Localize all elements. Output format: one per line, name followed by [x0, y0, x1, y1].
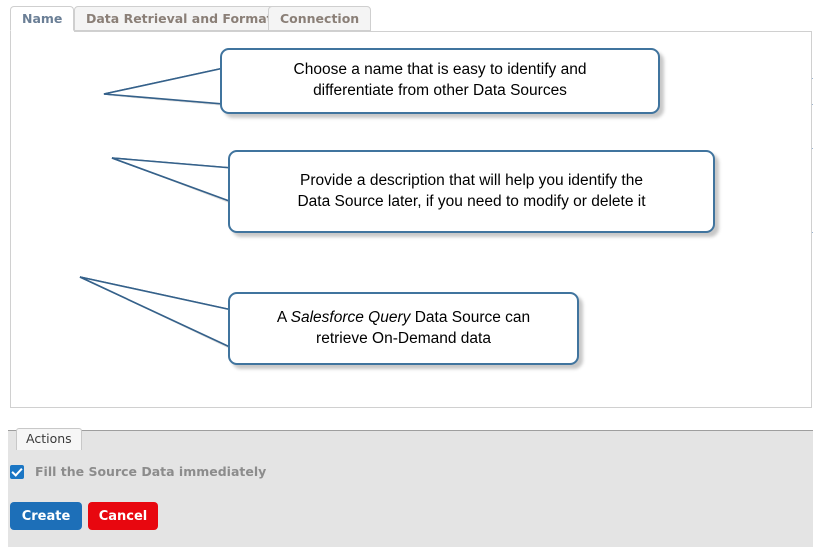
- callout-description-hint: Provide a description that will help you…: [228, 150, 715, 233]
- tab-connection[interactable]: Connection: [268, 6, 371, 31]
- callout-on-demand-emphasis: Salesforce Query: [291, 309, 411, 326]
- tab-data-retrieval-and-format[interactable]: Data Retrieval and Format: [74, 6, 285, 31]
- callout-description-line1: Provide a description that will help you…: [300, 172, 643, 189]
- cancel-button[interactable]: Cancel: [88, 502, 158, 530]
- callout-on-demand-line2: retrieve On-Demand data: [316, 330, 491, 347]
- tab-name[interactable]: Name: [10, 6, 74, 31]
- fill-source-data-label: Fill the Source Data immediately: [35, 464, 266, 479]
- actions-legend: Actions: [16, 428, 82, 450]
- fill-source-data-checkbox[interactable]: [10, 465, 24, 479]
- callout-on-demand-hint: A Salesforce Query Data Source can retri…: [228, 292, 579, 365]
- tab-strip: Name Data Retrieval and Format Connectio…: [0, 0, 813, 32]
- callout-description-line2: Data Source later, if you need to modify…: [297, 193, 645, 210]
- fill-source-data-row[interactable]: Fill the Source Data immediately: [10, 464, 266, 479]
- create-button[interactable]: Create: [10, 502, 82, 530]
- callout-on-demand-suffix: Data Source can: [410, 309, 530, 326]
- callout-name-hint: Choose a name that is easy to identify a…: [220, 48, 660, 114]
- callout-name-line1: Choose a name that is easy to identify a…: [294, 61, 587, 78]
- callout-on-demand-prefix: A: [277, 309, 291, 326]
- panel-top-border: [74, 31, 812, 32]
- callout-name-line2: differentiate from other Data Sources: [313, 82, 567, 99]
